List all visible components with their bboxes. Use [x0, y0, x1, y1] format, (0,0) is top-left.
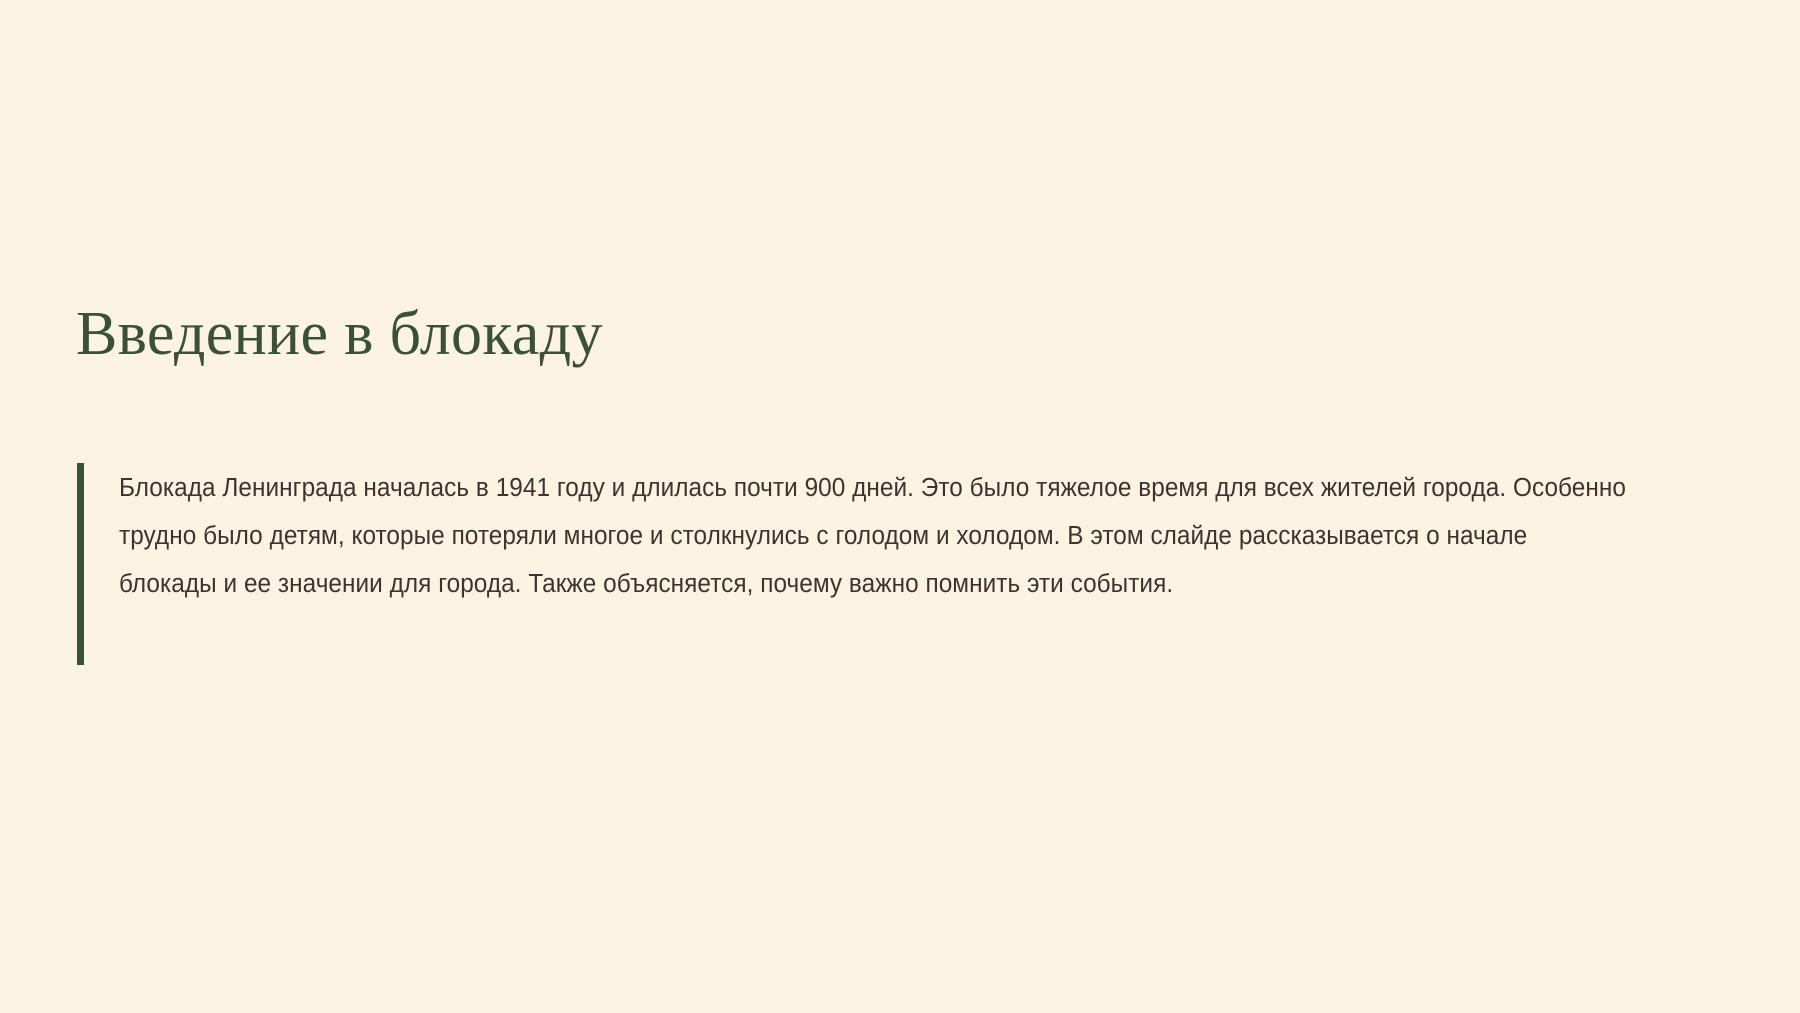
body-callout: Блокада Ленинграда началась в 1941 году … [77, 463, 1727, 665]
accent-bar [77, 463, 84, 665]
slide-canvas: Введение в блокаду Блокада Ленинграда на… [0, 0, 1800, 1013]
body-text-container: Блокада Ленинграда началась в 1941 году … [84, 463, 1727, 665]
body-paragraph: Блокада Ленинграда началась в 1941 году … [119, 464, 1628, 608]
page-title: Введение в блокаду [76, 296, 603, 372]
